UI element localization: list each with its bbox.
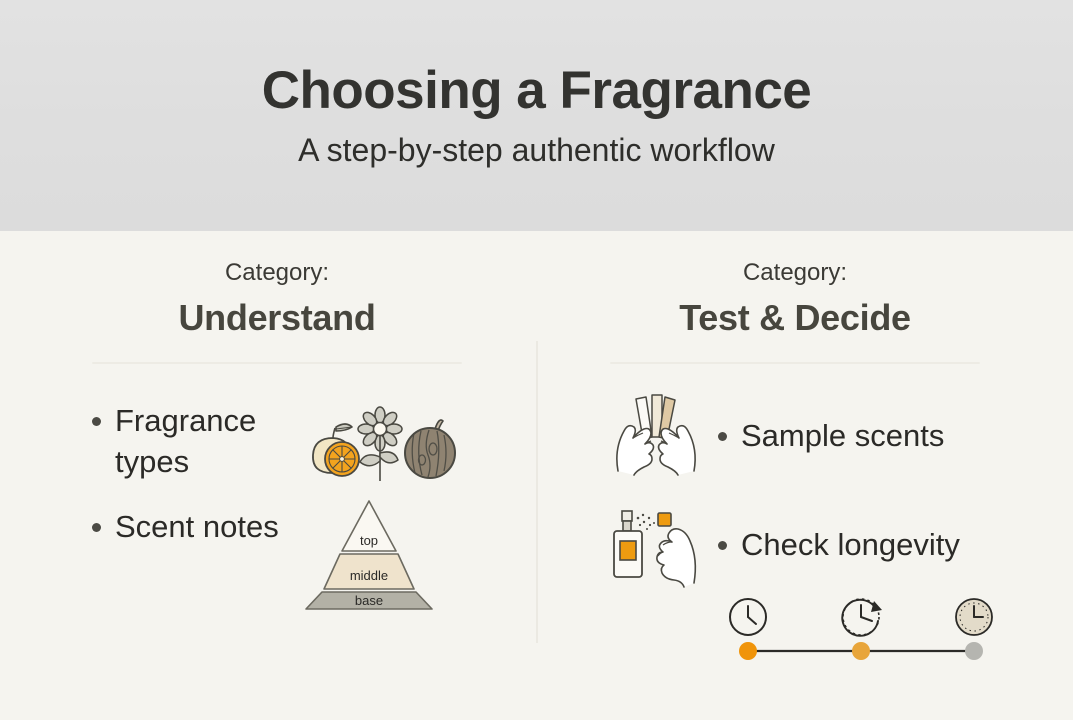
list-item-check-longevity[interactable]: Check longevity — [610, 503, 980, 589]
header-band: Choosing a Fragrance A step-by-step auth… — [0, 0, 1073, 231]
pyramid-tier-label-middle: middle — [350, 568, 388, 583]
list-item-label: Fragrance types — [115, 401, 294, 483]
category-rule-left — [92, 362, 462, 364]
longevity-timeline — [726, 593, 980, 663]
category-label-left: Category: — [92, 260, 462, 286]
bullet-dot-icon — [92, 417, 101, 426]
list-item-label: Check longevity — [741, 525, 960, 566]
perfume-spray-icon — [610, 507, 702, 589]
timeline-dot-2 — [852, 642, 870, 660]
timeline-dot-1 — [739, 642, 757, 660]
bullet-dot-icon — [718, 541, 727, 550]
list-item-label: Scent notes — [115, 507, 279, 548]
scent-pyramid-icon: top middle base — [299, 493, 439, 613]
category-rule-right — [610, 362, 980, 364]
list-item-label: Sample scents — [741, 416, 944, 457]
page-subtitle: A step-by-step authentic workflow — [298, 133, 775, 168]
page-title: Choosing a Fragrance — [262, 63, 812, 119]
category-name-right: Test & Decide — [610, 297, 980, 338]
clock-rotate-icon — [842, 599, 882, 636]
pyramid-tier-label-base: base — [355, 593, 383, 608]
bullet-dot-icon — [92, 523, 101, 532]
infographic-canvas: Choosing a Fragrance A step-by-step auth… — [0, 0, 1073, 720]
list-item-sample-scents[interactable]: Sample scents — [610, 397, 980, 477]
bullet-dot-icon — [718, 432, 727, 441]
timeline-dot-3 — [965, 642, 983, 660]
pyramid-tier-label-top: top — [360, 533, 378, 548]
list-item-scent-notes[interactable]: Scent notes top middle base — [92, 507, 462, 613]
category-name-left: Understand — [92, 297, 462, 338]
list-item-fragrance-types[interactable]: Fragrance types — [92, 401, 462, 485]
clock-icon — [730, 599, 766, 635]
fragrance-type-icons — [302, 405, 462, 485]
flower-icon — [358, 407, 402, 481]
category-label-right: Category: — [610, 260, 980, 286]
column-test-decide: Category: Test & Decide — [536, 231, 1072, 720]
citrus-icon — [313, 424, 359, 476]
columns-container: Category: Understand Fragrance types — [0, 231, 1073, 720]
clock-filled-icon — [956, 599, 992, 635]
column-understand: Category: Understand Fragrance types — [0, 231, 536, 720]
wood-icon — [405, 420, 455, 478]
hands-test-strips-icon — [610, 391, 702, 477]
